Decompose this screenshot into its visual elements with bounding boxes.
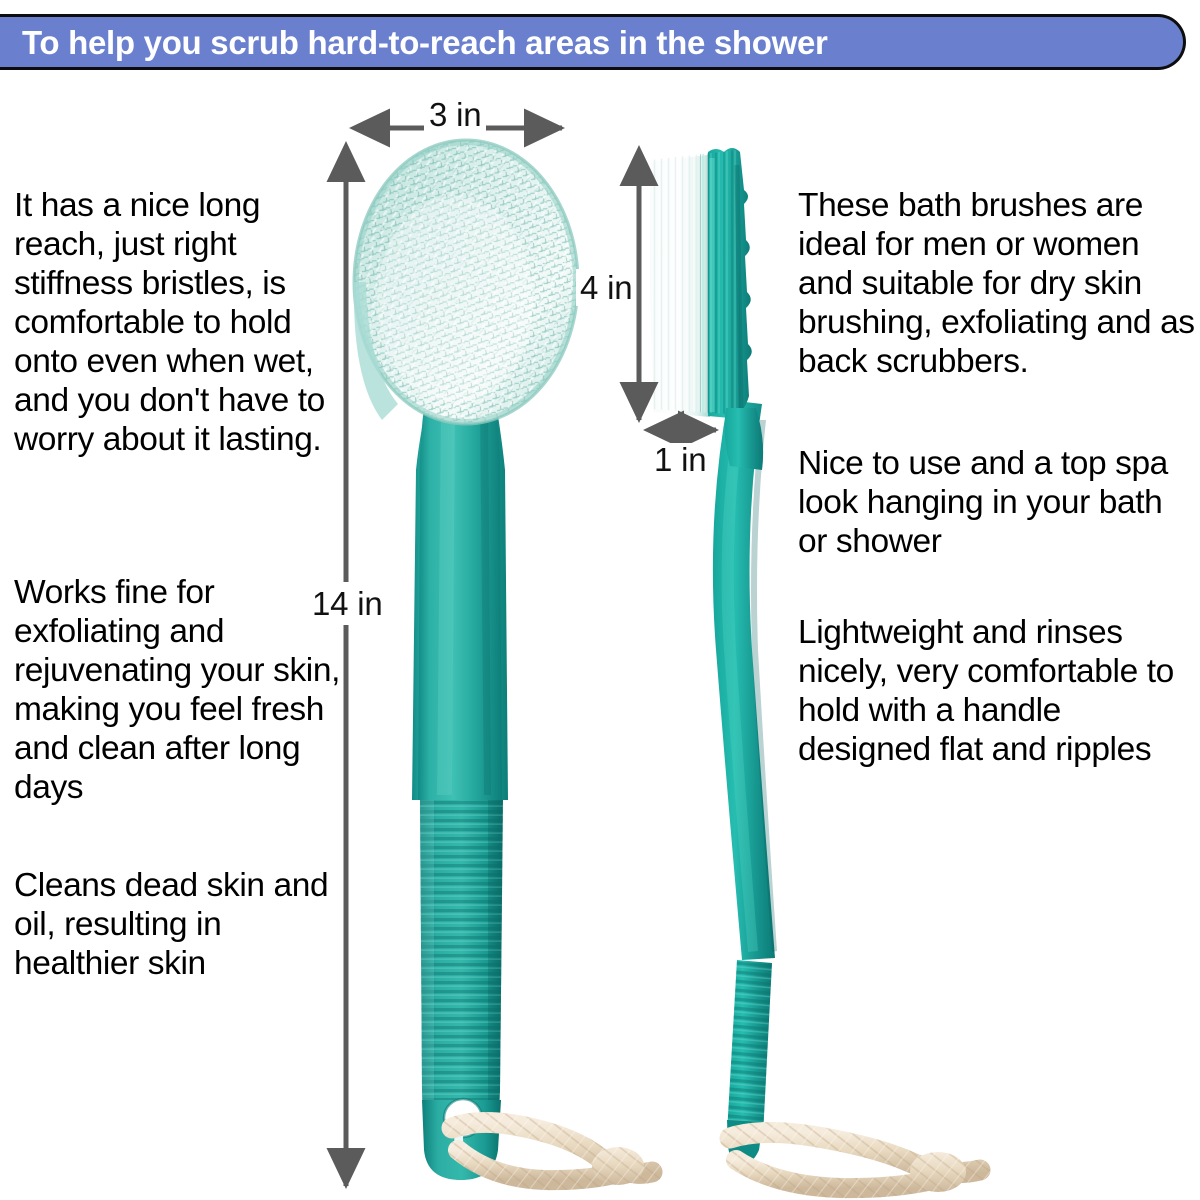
header-banner: To help you scrub hard-to-reach areas in… — [0, 14, 1186, 70]
left-paragraph-2: Works fine for exfoliating and rejuvenat… — [14, 573, 348, 807]
right-paragraph-3: Lightweight and rinses nicely, very comf… — [798, 613, 1198, 769]
dimension-label-head-depth: 1 in — [650, 443, 710, 476]
header-title: To help you scrub hard-to-reach areas in… — [0, 26, 828, 59]
left-paragraph-3: Cleans dead skin and oil, resulting in h… — [14, 866, 348, 983]
product-infographic: To help you scrub hard-to-reach areas in… — [0, 0, 1200, 1200]
dimension-label-head-height: 4 in — [576, 269, 636, 306]
dimension-label-head-width: 3 in — [424, 98, 486, 131]
left-paragraph-1: It has a nice long reach, just right sti… — [14, 186, 348, 459]
right-paragraph-2: Nice to use and a top spa look hanging i… — [798, 444, 1198, 561]
right-paragraph-1: These bath brushes are ideal for men or … — [798, 186, 1198, 381]
